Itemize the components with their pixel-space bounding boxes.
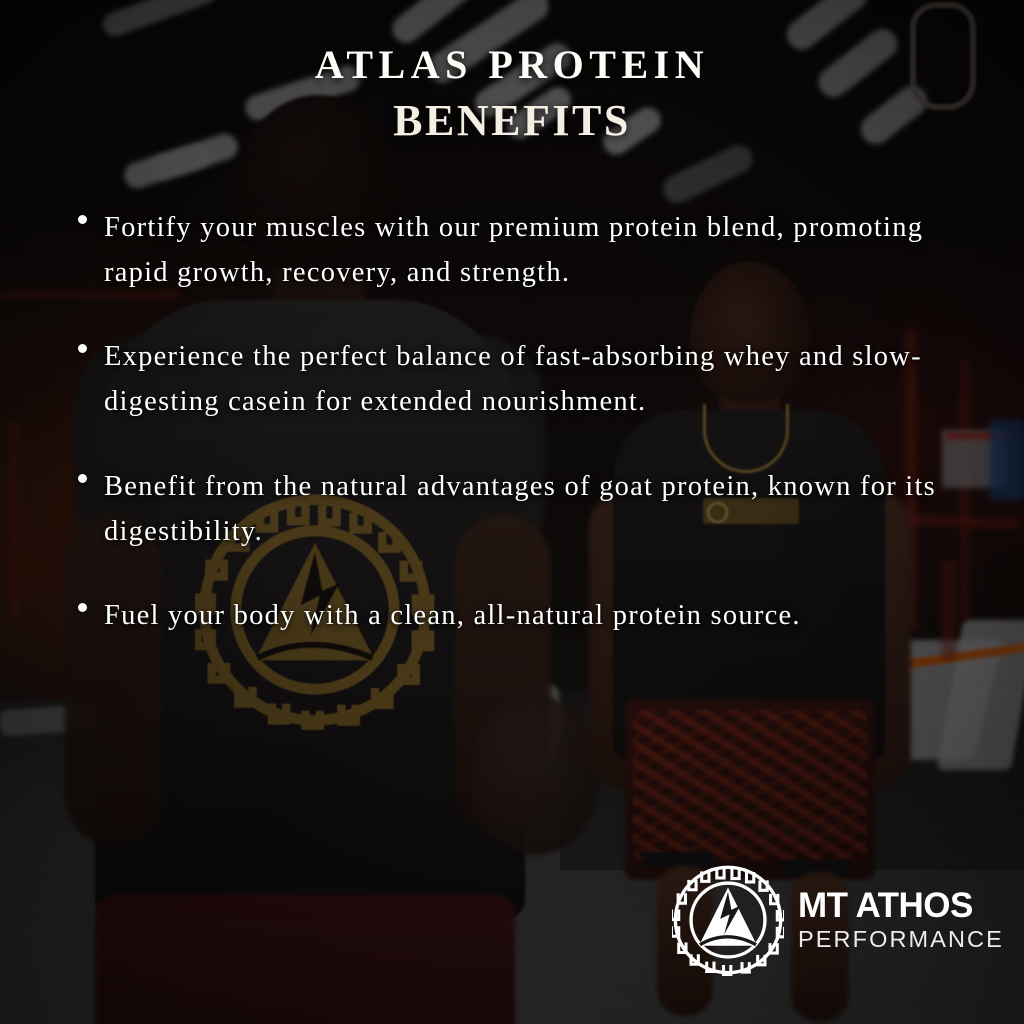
brand-logo: MT ATHOS PERFORMANCE bbox=[672, 862, 992, 978]
brand-tagline: PERFORMANCE bbox=[798, 928, 1004, 952]
list-item: Fortify your muscles with our premium pr… bbox=[78, 206, 978, 295]
bullet-dot-icon bbox=[78, 603, 87, 612]
list-item: Fuel your body with a clean, all-natural… bbox=[78, 594, 978, 639]
mt-athos-mountain-meander-icon bbox=[672, 864, 784, 976]
benefit-text: Benefit from the natural advantages of g… bbox=[104, 465, 978, 554]
list-item: Experience the perfect balance of fast-a… bbox=[78, 335, 978, 424]
benefits-list: Fortify your muscles with our premium pr… bbox=[78, 206, 978, 639]
poster-canvas: ATLAS PROTEIN BENEFITS Fortify your musc… bbox=[0, 0, 1024, 1024]
benefit-text: Experience the perfect balance of fast-a… bbox=[104, 335, 978, 424]
title-line-secondary: BENEFITS bbox=[0, 98, 1024, 144]
title-line-primary: ATLAS PROTEIN bbox=[0, 44, 1024, 86]
brand-wordmark: MT ATHOS PERFORMANCE bbox=[798, 888, 1004, 952]
brand-name: MT ATHOS bbox=[798, 888, 1004, 923]
benefit-text: Fuel your body with a clean, all-natural… bbox=[104, 594, 978, 639]
benefit-text: Fortify your muscles with our premium pr… bbox=[104, 206, 978, 295]
bullet-dot-icon bbox=[78, 344, 87, 353]
poster-content: ATLAS PROTEIN BENEFITS Fortify your musc… bbox=[0, 0, 1024, 1024]
bullet-dot-icon bbox=[78, 215, 87, 224]
bullet-dot-icon bbox=[78, 474, 87, 483]
list-item: Benefit from the natural advantages of g… bbox=[78, 465, 978, 554]
page-title: ATLAS PROTEIN BENEFITS bbox=[0, 44, 1024, 144]
